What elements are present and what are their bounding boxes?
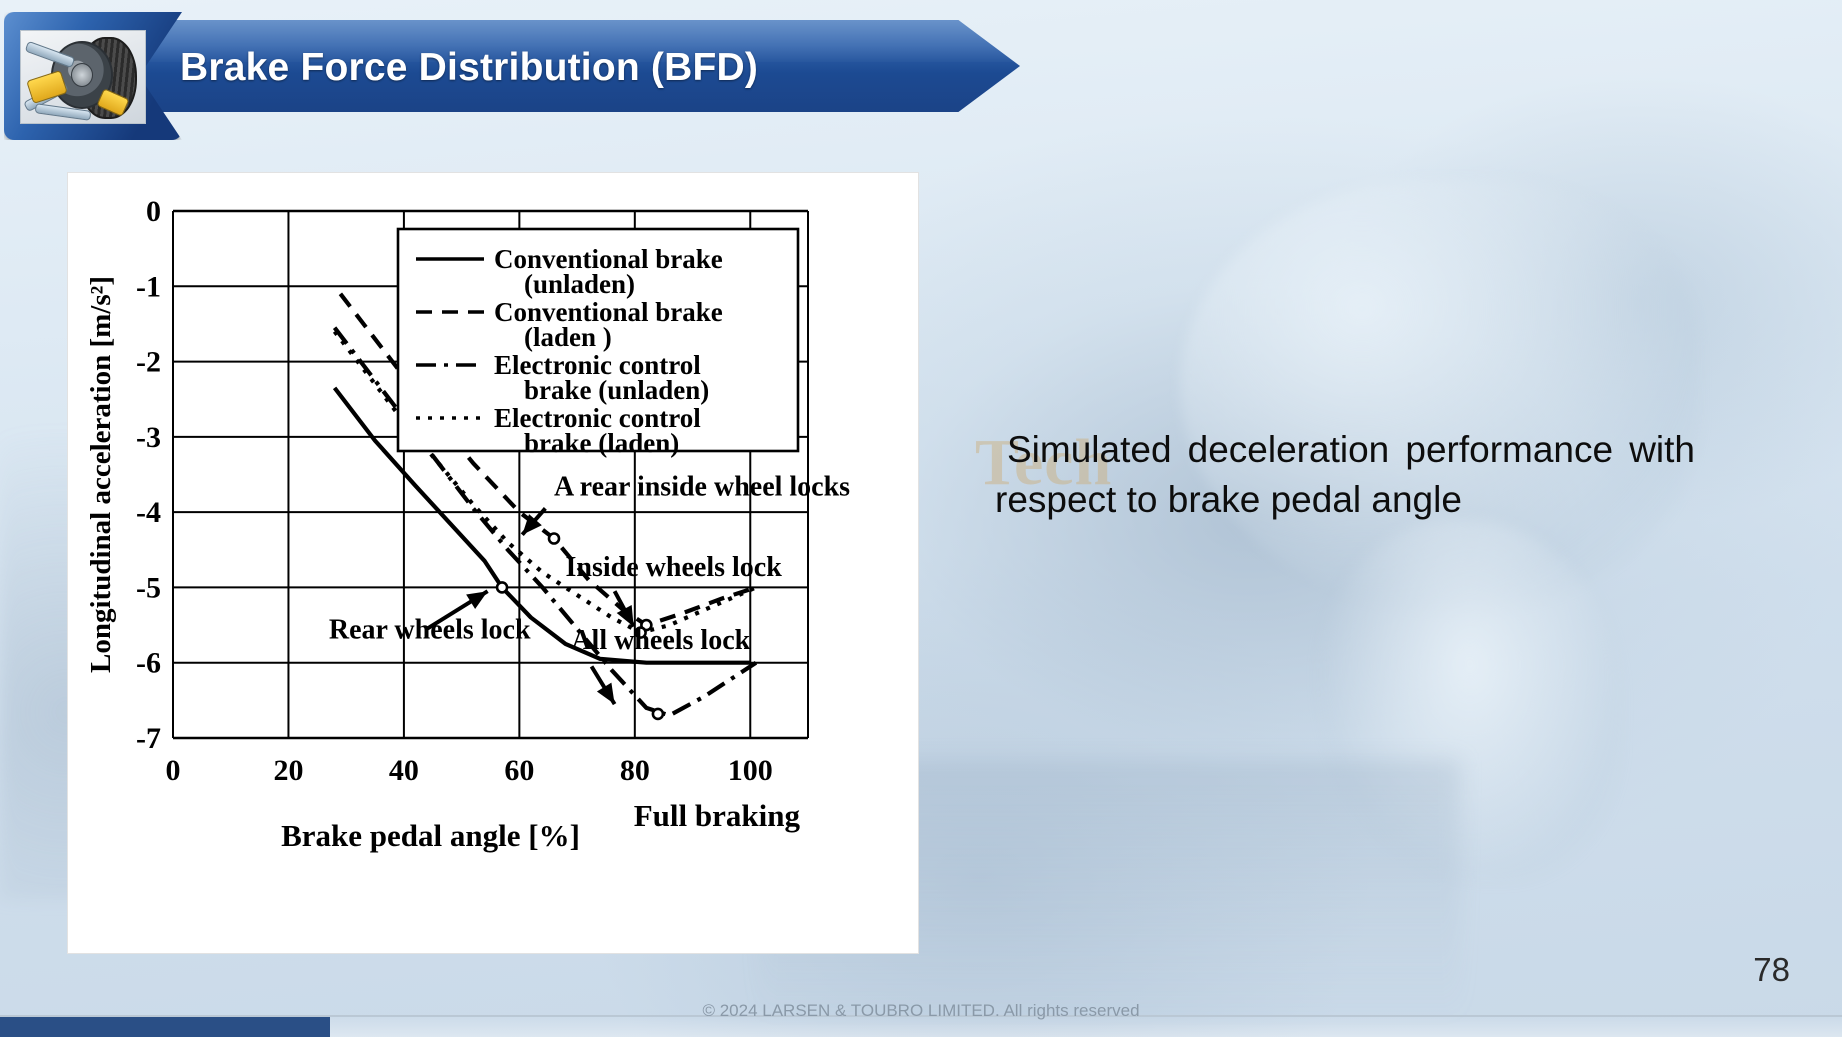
rotor-hub-graphic <box>71 63 93 87</box>
chart-panel: 0-1-2-3-4-5-6-7020406080100Longitudinal … <box>67 172 919 954</box>
svg-text:-1: -1 <box>136 270 161 303</box>
slide-header: Brake Force Distribution (BFD) <box>0 8 1022 122</box>
description-paragraph: Simulated deceleration performance with … <box>995 429 1695 520</box>
description-text: Simulated deceleration performance with … <box>995 425 1695 525</box>
svg-text:All wheels lock: All wheels lock <box>571 625 750 656</box>
page-title: Brake Force Distribution (BFD) <box>180 46 980 90</box>
svg-text:100: 100 <box>728 754 773 787</box>
svg-text:Rear wheels lock: Rear wheels lock <box>329 615 531 646</box>
svg-text:A rear inside wheel locks: A rear inside wheel locks <box>554 472 850 503</box>
page-number: 78 <box>1753 951 1790 989</box>
svg-text:80: 80 <box>620 754 650 787</box>
svg-text:-6: -6 <box>136 647 161 680</box>
svg-text:-2: -2 <box>136 346 161 379</box>
svg-text:Full braking: Full braking <box>634 798 801 833</box>
deceleration-performance-chart: 0-1-2-3-4-5-6-7020406080100Longitudinal … <box>68 173 918 953</box>
svg-text:20: 20 <box>273 754 303 787</box>
svg-text:60: 60 <box>504 754 534 787</box>
brake-assembly-image <box>20 30 146 124</box>
svg-text:-7: -7 <box>136 722 161 755</box>
svg-text:Longitudinal acceleration [m/: Longitudinal acceleration [m/s²] <box>85 276 117 673</box>
svg-text:-5: -5 <box>136 571 161 604</box>
svg-text:0: 0 <box>146 195 161 228</box>
svg-text:Inside wheels lock: Inside wheels lock <box>566 552 783 583</box>
svg-text:-4: -4 <box>136 496 161 529</box>
svg-text:(laden ): (laden ) <box>524 322 612 352</box>
svg-text:(unladen): (unladen) <box>524 269 635 299</box>
svg-text:-3: -3 <box>136 421 161 454</box>
svg-text:0: 0 <box>166 754 181 787</box>
svg-text:Brake pedal angle [%]: Brake pedal angle [%] <box>281 818 580 853</box>
chart-svg: 0-1-2-3-4-5-6-7020406080100Longitudinal … <box>68 173 918 953</box>
svg-text:40: 40 <box>389 754 419 787</box>
svg-text:brake (unladen): brake (unladen) <box>524 375 709 405</box>
copyright-text: © 2024 LARSEN & TOUBRO LIMITED. All righ… <box>0 1001 1842 1021</box>
svg-text:brake (laden): brake (laden) <box>524 428 679 458</box>
